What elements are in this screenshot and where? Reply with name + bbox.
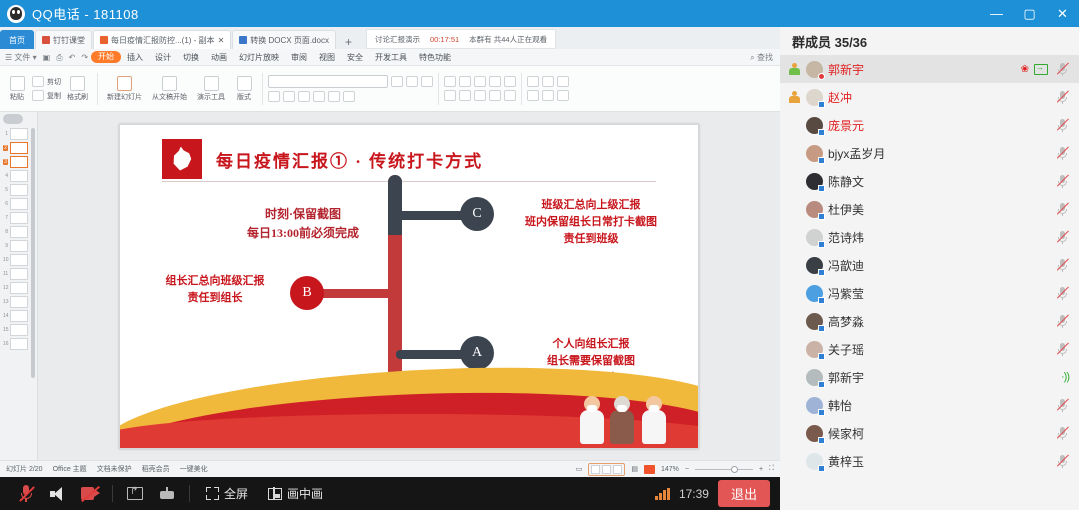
mic-muted-icon[interactable] bbox=[1056, 118, 1069, 132]
ribbon-tab-design[interactable]: 设计 bbox=[149, 49, 177, 66]
slide-surface[interactable]: 每日疫情汇报① · 传统打卡方式 时刻·保留截图 每日13:00前必须完成 C … bbox=[119, 124, 699, 449]
wps-tab-home[interactable]: 首页 bbox=[0, 30, 34, 49]
mic-muted-icon[interactable] bbox=[1056, 426, 1069, 440]
member-name: 郭新宇 bbox=[828, 369, 1056, 386]
view-mode-group[interactable] bbox=[588, 463, 625, 476]
arrange-icon[interactable] bbox=[527, 90, 539, 101]
member-row-4[interactable]: bjyx孟岁月 bbox=[780, 139, 1079, 167]
wps-tab-1[interactable]: 钉钉课堂 bbox=[35, 30, 92, 49]
fullscreen-button[interactable]: 全屏 bbox=[196, 485, 258, 502]
meeting-viewers: 本群有 共44人正在观看 bbox=[469, 34, 547, 45]
member-name: 韩怡 bbox=[828, 397, 1051, 414]
node-b-text: 组长汇总向班级汇报 责任到组长 bbox=[142, 273, 288, 307]
member-row-3[interactable]: 庞景元 bbox=[780, 111, 1079, 139]
ribbon-tab-transition[interactable]: 切换 bbox=[177, 49, 205, 66]
ribbon-tab-animation[interactable]: 动画 bbox=[205, 49, 233, 66]
mic-muted-icon[interactable] bbox=[1056, 342, 1069, 356]
bullet-list-icon[interactable] bbox=[444, 76, 456, 87]
underline-icon[interactable] bbox=[298, 91, 310, 102]
align-right-icon[interactable] bbox=[474, 90, 486, 101]
minimize-button[interactable]: — bbox=[980, 0, 1013, 27]
members-header: 群成员 35/36 bbox=[780, 27, 1079, 55]
pip-button[interactable]: 画中画 bbox=[258, 485, 333, 502]
panel-filler bbox=[780, 477, 1079, 510]
member-name: 冯紫莹 bbox=[828, 285, 1051, 302]
wps-tab-2[interactable]: 每日疫情汇报防控...(1) - 副本 ✕ bbox=[93, 30, 231, 49]
ribbon-cut[interactable]: 剪切 bbox=[32, 76, 61, 87]
member-name: 郭新宇 bbox=[828, 61, 1016, 78]
seat-icon bbox=[788, 91, 801, 103]
screen-share-icon[interactable] bbox=[1034, 64, 1048, 75]
shape-outline-icon[interactable] bbox=[542, 76, 554, 87]
member-row-7[interactable]: 范诗炜 bbox=[780, 223, 1079, 251]
mic-muted-icon[interactable] bbox=[1056, 174, 1069, 188]
avatar bbox=[806, 89, 823, 106]
text-color-icon[interactable] bbox=[328, 91, 340, 102]
avatar bbox=[806, 341, 823, 358]
decrease-font-icon[interactable] bbox=[421, 76, 433, 87]
exit-button[interactable]: 退出 bbox=[718, 480, 770, 507]
doc-file-icon bbox=[239, 36, 247, 44]
beautify-label[interactable]: 一键美化 bbox=[180, 464, 208, 474]
avatar bbox=[806, 369, 823, 386]
reading-view-icon[interactable] bbox=[613, 465, 622, 474]
wps-tab-1-label: 钉钉课堂 bbox=[53, 35, 85, 46]
font-name-input[interactable] bbox=[268, 75, 388, 88]
avatar bbox=[806, 201, 823, 218]
slide-thumbnail-panel[interactable]: 1 2 3 4 5 6 7 8 9 10 11 12 13 14 15 16 bbox=[0, 112, 38, 460]
panel-toggle-icon[interactable] bbox=[3, 114, 23, 124]
picture-in-picture-icon bbox=[268, 488, 282, 500]
qq-call-window: QQ电话 - 181108 — ▢ ✕ 首页 钉钉课堂 每日疫情汇报防控...(… bbox=[0, 0, 1079, 510]
member-name: 黄梓玉 bbox=[828, 453, 1051, 470]
member-row-13[interactable]: 韩怡 bbox=[780, 391, 1079, 419]
close-button[interactable]: ✕ bbox=[1046, 0, 1079, 27]
print-icon[interactable]: ⎙ bbox=[53, 49, 65, 66]
illustration-person-2 bbox=[614, 396, 634, 444]
ribbon-from-doc[interactable]: 从文稿开始 bbox=[148, 76, 191, 102]
wps-ribbon-body: 粘贴 剪切 复制 格式刷 新建幻灯片 从文稿开始 演示工具 版式 bbox=[0, 66, 780, 112]
ppt-file-icon bbox=[100, 36, 108, 44]
menu-icon[interactable]: ☰ 文件 ▾ bbox=[2, 49, 40, 66]
member-name: 庞景元 bbox=[828, 117, 1051, 134]
meeting-timer: 00:17:51 bbox=[430, 35, 459, 44]
member-row-1[interactable]: 郭新宇 ❀ bbox=[780, 55, 1079, 83]
title-divider bbox=[162, 181, 656, 182]
tab-close-icon[interactable]: ✕ bbox=[218, 36, 225, 45]
redo-icon[interactable]: ↷ bbox=[78, 49, 91, 66]
undo-icon[interactable]: ↶ bbox=[66, 49, 79, 66]
title-bar: QQ电话 - 181108 — ▢ ✕ bbox=[0, 0, 1079, 27]
wps-ribbon-tabs: ☰ 文件 ▾ ▣ ⎙ ↶ ↷ 开始 插入 设计 切换 动画 幻灯片放映 审阅 视… bbox=[0, 49, 780, 66]
ribbon-copy-label: 复制 bbox=[47, 91, 61, 101]
avatar bbox=[806, 145, 823, 162]
ribbon-new-slide[interactable]: 新建幻灯片 bbox=[103, 76, 146, 102]
mic-muted-icon[interactable] bbox=[10, 477, 42, 510]
avatar bbox=[806, 61, 823, 78]
avatar bbox=[806, 257, 823, 274]
speaker-icon[interactable] bbox=[42, 477, 74, 510]
new-tab-button[interactable]: + bbox=[337, 35, 360, 49]
fullscreen-label: 全屏 bbox=[224, 485, 248, 502]
member-row-6[interactable]: 杜伊美 bbox=[780, 195, 1079, 223]
wps-tab-strip: 首页 钉钉课堂 每日疫情汇报防控...(1) - 副本 ✕ 转换 DOCX 页面… bbox=[0, 27, 780, 49]
node-c-line-3: 责任到班级 bbox=[502, 231, 680, 248]
camera-muted-icon[interactable] bbox=[74, 477, 106, 510]
sorter-view-icon[interactable] bbox=[602, 465, 611, 474]
indent-decrease-icon[interactable] bbox=[474, 76, 486, 87]
call-control-toolbar: 全屏 画中画 17:39 退出 bbox=[0, 477, 780, 510]
avatar bbox=[806, 117, 823, 134]
number-list-icon[interactable] bbox=[459, 76, 471, 87]
justify-icon[interactable] bbox=[489, 90, 501, 101]
member-row-14[interactable]: 候家柯 bbox=[780, 419, 1079, 447]
ribbon-format-painter[interactable]: 格式刷 bbox=[63, 76, 92, 102]
pip-label: 画中画 bbox=[287, 485, 323, 502]
tree-trunk-top bbox=[388, 175, 402, 235]
zoom-level-label[interactable]: 147% bbox=[661, 466, 679, 473]
projector-icon[interactable] bbox=[151, 477, 183, 510]
member-row-2[interactable]: 赵冲 bbox=[780, 83, 1079, 111]
mic-muted-icon[interactable] bbox=[1056, 314, 1069, 328]
fullscreen-icon bbox=[206, 487, 219, 500]
node-c-line-1: 班级汇总向上级汇报 bbox=[502, 197, 680, 214]
shape-fill-icon[interactable] bbox=[527, 76, 539, 87]
ribbon-tab-features[interactable]: 特色功能 bbox=[413, 49, 457, 66]
ribbon-tab-security[interactable]: 安全 bbox=[341, 49, 369, 66]
avatar bbox=[806, 313, 823, 330]
zoom-out-button[interactable]: − bbox=[685, 466, 689, 473]
line-spacing-icon[interactable] bbox=[504, 76, 516, 87]
member-row-15[interactable]: 黄梓玉 bbox=[780, 447, 1079, 475]
slide-title: 每日疫情汇报① · 传统打卡方式 bbox=[216, 147, 483, 172]
ribbon-tab-review[interactable]: 审阅 bbox=[285, 49, 313, 66]
member-row-11[interactable]: 关子瑶 bbox=[780, 335, 1079, 363]
ribbon-cut-label: 剪切 bbox=[47, 77, 61, 87]
thumbnail-scrollbar[interactable] bbox=[31, 128, 35, 378]
fit-to-window-icon[interactable]: ⛶ bbox=[769, 465, 774, 473]
shape-effect-icon[interactable] bbox=[557, 76, 569, 87]
protection-label[interactable]: 文档未保护 bbox=[97, 464, 132, 474]
qq-penguin-icon bbox=[7, 5, 25, 23]
window-title: QQ电话 - 181108 bbox=[32, 4, 139, 23]
notes-view-icon[interactable]: ▤ bbox=[631, 465, 638, 473]
ribbon-from-doc-label: 从文稿开始 bbox=[152, 92, 187, 102]
member-row-12[interactable]: 郭新宇 ·)) bbox=[780, 363, 1079, 391]
avatar bbox=[806, 285, 823, 302]
mic-muted-icon[interactable] bbox=[1056, 90, 1069, 104]
theme-label[interactable]: Office 主题 bbox=[53, 464, 87, 474]
member-name: 陈静文 bbox=[828, 173, 1051, 190]
member-name: bjyx孟岁月 bbox=[828, 145, 1051, 162]
mic-muted-icon[interactable] bbox=[1056, 202, 1069, 216]
signal-bars-icon bbox=[655, 488, 670, 500]
ribbon-layout[interactable]: 版式 bbox=[231, 76, 257, 102]
mic-muted-icon[interactable] bbox=[1056, 286, 1069, 300]
ribbon-format-painter-label: 格式刷 bbox=[67, 92, 88, 102]
node-b-line-1: 组长汇总向班级汇报 bbox=[142, 273, 288, 290]
avatar bbox=[806, 229, 823, 246]
avatar bbox=[806, 173, 823, 190]
node-c: C bbox=[460, 197, 494, 231]
normal-view-icon[interactable] bbox=[591, 465, 600, 474]
find-replace-icon[interactable] bbox=[557, 90, 569, 101]
ribbon-paste[interactable]: 粘贴 bbox=[4, 76, 30, 102]
share-screen-icon[interactable] bbox=[119, 477, 151, 510]
node-a: A bbox=[460, 336, 494, 370]
member-name: 范诗炜 bbox=[828, 229, 1051, 246]
slide-note-line-2: 每日13:00前必须完成 bbox=[198, 224, 408, 243]
slide-note-line-1: 时刻·保留截图 bbox=[198, 205, 408, 224]
member-row-9[interactable]: 冯紫莹 bbox=[780, 279, 1079, 307]
italic-icon[interactable] bbox=[283, 91, 295, 102]
slide-count-label: 幻灯片 2/20 bbox=[6, 464, 43, 474]
strikethrough-icon[interactable] bbox=[313, 91, 325, 102]
mic-muted-icon[interactable] bbox=[1056, 230, 1069, 244]
wps-tab-3-label: 转换 DOCX 页面.docx bbox=[250, 35, 329, 46]
red-fist-icon bbox=[162, 139, 202, 179]
align-left-icon[interactable] bbox=[444, 90, 456, 101]
select-icon[interactable] bbox=[542, 90, 554, 101]
avatar bbox=[806, 425, 823, 442]
node-b: B bbox=[290, 276, 324, 310]
mic-speaking-icon[interactable]: ·)) bbox=[1061, 372, 1069, 383]
mic-muted-icon[interactable] bbox=[1056, 258, 1069, 272]
ribbon-tab-devtools[interactable]: 开发工具 bbox=[369, 49, 413, 66]
members-panel[interactable]: 群成员 35/36 郭新宇 ❀ 赵冲 庞景元 bjyx孟岁 bbox=[780, 27, 1079, 510]
mic-muted-icon[interactable] bbox=[1056, 146, 1069, 160]
maximize-button[interactable]: ▢ bbox=[1013, 0, 1046, 27]
member-name: 候家柯 bbox=[828, 425, 1051, 442]
member-row-10[interactable]: 高梦淼 bbox=[780, 307, 1079, 335]
search-icon[interactable]: ⌕ 查找 bbox=[747, 49, 776, 66]
member-name: 关子瑶 bbox=[828, 341, 1051, 358]
ribbon-paste-label: 粘贴 bbox=[10, 92, 24, 102]
member-label[interactable]: 稻壳会员 bbox=[142, 464, 170, 474]
increase-font-icon[interactable] bbox=[406, 76, 418, 87]
ribbon-tab-slideshow[interactable]: 幻灯片放映 bbox=[233, 49, 285, 66]
align-center-icon[interactable] bbox=[459, 90, 471, 101]
avatar bbox=[806, 453, 823, 470]
member-name: 高梦淼 bbox=[828, 313, 1051, 330]
ribbon-present-tools-label: 演示工具 bbox=[197, 92, 225, 102]
member-name: 冯歆迪 bbox=[828, 257, 1051, 274]
wps-tab-3[interactable]: 转换 DOCX 页面.docx bbox=[232, 30, 336, 49]
meeting-status-bar: 讨论汇报演示 00:17:51 本群有 共44人正在观看 bbox=[366, 29, 556, 49]
mic-muted-icon[interactable] bbox=[1056, 398, 1069, 412]
node-a-line-1: 个人向组长汇报 bbox=[502, 336, 680, 353]
ribbon-copy[interactable]: 复制 bbox=[32, 90, 61, 101]
avatar bbox=[806, 397, 823, 414]
window-controls: — ▢ ✕ bbox=[980, 0, 1079, 27]
font-size-input[interactable] bbox=[391, 76, 403, 87]
columns-icon[interactable] bbox=[504, 90, 516, 101]
zoom-in-button[interactable]: + bbox=[759, 466, 763, 473]
ribbon-tab-view[interactable]: 视图 bbox=[313, 49, 341, 66]
play-slideshow-icon[interactable] bbox=[644, 465, 655, 474]
host-crown-icon: ❀ bbox=[1021, 64, 1029, 75]
ribbon-tab-start[interactable]: 开始 bbox=[91, 51, 121, 63]
shared-screen-view[interactable]: 首页 钉钉课堂 每日疫情汇报防控...(1) - 副本 ✕ 转换 DOCX 页面… bbox=[0, 27, 780, 477]
wps-main-area: 1 2 3 4 5 6 7 8 9 10 11 12 13 14 15 16 bbox=[0, 112, 780, 460]
medical-workers-illustration bbox=[582, 382, 682, 444]
slide-note: 时刻·保留截图 每日13:00前必须完成 bbox=[198, 205, 408, 243]
bold-icon[interactable] bbox=[268, 91, 280, 102]
slide-canvas[interactable]: 每日疫情汇报① · 传统打卡方式 时刻·保留截图 每日13:00前必须完成 C … bbox=[38, 112, 780, 460]
zoom-slider[interactable] bbox=[695, 469, 753, 470]
mic-muted-icon[interactable] bbox=[1056, 454, 1069, 468]
illustration-person-1 bbox=[584, 396, 604, 444]
highlight-icon[interactable] bbox=[343, 91, 355, 102]
node-c-text: 班级汇总向上级汇报 班内保留组长日常打卡截图 责任到班级 bbox=[502, 197, 680, 248]
call-clock: 17:39 bbox=[679, 487, 709, 501]
meeting-name: 讨论汇报演示 bbox=[375, 34, 420, 45]
member-name: 杜伊美 bbox=[828, 201, 1051, 218]
seat-icon bbox=[788, 63, 801, 75]
member-row-8[interactable]: 冯歆迪 bbox=[780, 251, 1079, 279]
node-c-line-2: 班内保留组长日常打卡截图 bbox=[502, 214, 680, 231]
mic-muted-icon[interactable] bbox=[1056, 62, 1069, 76]
node-b-line-2: 责任到组长 bbox=[142, 290, 288, 307]
save-icon[interactable]: ▣ bbox=[40, 49, 54, 66]
indent-increase-icon[interactable] bbox=[489, 76, 501, 87]
ribbon-new-slide-label: 新建幻灯片 bbox=[107, 92, 142, 102]
wps-status-bar: 幻灯片 2/20 Office 主题 文档未保护 稻壳会员 一键美化 ▭ ▤ 1… bbox=[0, 460, 780, 477]
member-name: 赵冲 bbox=[828, 89, 1051, 106]
ribbon-present-tools[interactable]: 演示工具 bbox=[193, 76, 229, 102]
pdf-file-icon bbox=[42, 36, 50, 44]
ribbon-tab-insert[interactable]: 插入 bbox=[121, 49, 149, 66]
view-options-icon[interactable]: ▭ bbox=[576, 465, 583, 473]
illustration-person-3 bbox=[646, 396, 666, 444]
wps-tab-2-label: 每日疫情汇报防控...(1) - 副本 bbox=[111, 35, 215, 46]
member-row-5[interactable]: 陈静文 bbox=[780, 167, 1079, 195]
ribbon-layout-label: 版式 bbox=[237, 92, 251, 102]
